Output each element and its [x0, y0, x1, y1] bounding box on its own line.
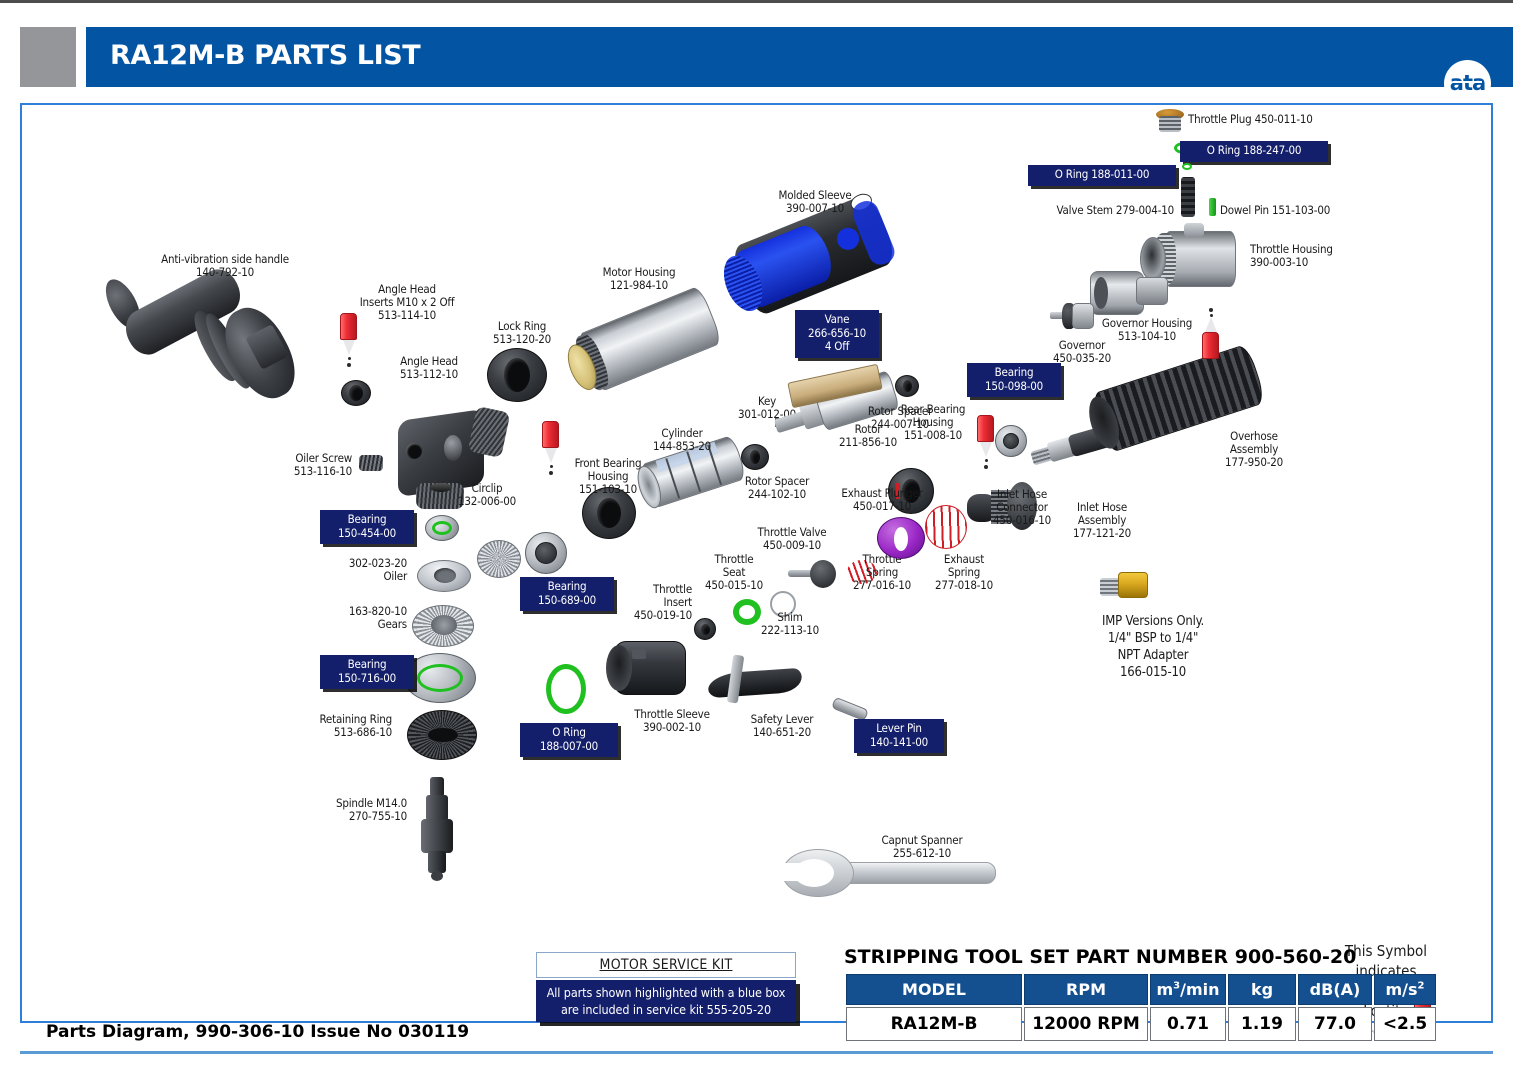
label-anti-vibration-side-handle: Anti-vibration side handle 140-792-10	[140, 253, 310, 279]
label-gears: 163-820-10 Gears	[297, 605, 407, 631]
cell-vibration: <2.5	[1374, 1007, 1436, 1041]
header-top-rule	[0, 0, 1513, 3]
th-rpm: RPM	[1024, 974, 1148, 1005]
label-lever-pin: Lever Pin 140-141-00	[854, 719, 944, 753]
ata-logo-strike	[1453, 81, 1482, 83]
rotor-spacer-244-007-10-graphic	[895, 375, 919, 397]
label-oiler-screw: Oiler Screw 513-116-10	[232, 452, 352, 478]
label-exhaust-plunger: Exhaust Plunger 450-017-10	[817, 487, 947, 513]
cell-weight: 1.19	[1228, 1007, 1296, 1041]
rotor-spacer-244-102-10-graphic	[741, 444, 769, 470]
retaining-ring-graphic	[407, 710, 477, 760]
safety-lever-graphic	[708, 655, 804, 705]
label-bearing-150-689-00: Bearing 150-689-00	[520, 577, 614, 611]
table-row: RA12M-B 12000 RPM 0.71 1.19 77.0 <2.5	[846, 1007, 1436, 1041]
valve-stem-graphic	[1181, 177, 1195, 217]
th-model: MODEL	[846, 974, 1022, 1005]
imp-adapter-graphic	[1100, 570, 1150, 602]
label-oiler: 302-023-20 Oiler	[297, 557, 407, 583]
throttle-valve-graphic	[788, 560, 836, 588]
throttle-sleeve-graphic	[606, 635, 694, 705]
footer-issue-text: Parts Diagram, 990-306-10 Issue No 03011…	[46, 1022, 469, 1042]
exhaust-spring-graphic	[925, 505, 967, 549]
throttle-plug-graphic	[1156, 109, 1184, 135]
diagram-frame: Anti-vibration side handle 140-792-10 An…	[20, 103, 1493, 1023]
label-bearing-150-716-00: Bearing 150-716-00	[320, 655, 414, 689]
label-throttle-valve: Throttle Valve 450-009-10	[732, 526, 852, 552]
imp-versions-note: IMP Versions Only. 1/4" BSP to 1/4" NPT …	[1053, 613, 1253, 681]
parts-diagram-page: ata RA12M-B PARTS LIST Anti-vibration si…	[0, 0, 1513, 1069]
label-throttle-plug: Throttle Plug 450-011-10	[1188, 113, 1368, 126]
label-angle-head-inserts: Angle Head Inserts M10 x 2 Off 513-114-1…	[327, 283, 487, 322]
label-valve-stem: Valve Stem 279-004-10	[994, 204, 1174, 217]
cell-rpm: 12000 RPM	[1024, 1007, 1148, 1041]
bevel-gear-graphic	[477, 540, 521, 578]
label-molded-sleeve: Molded Sleeve 390-007-10	[755, 189, 875, 215]
label-throttle-housing: Throttle Housing 390-003-10	[1250, 243, 1380, 269]
oiler-screw-graphic	[359, 455, 383, 471]
label-o-ring-188-011-00: O Ring 188-011-00	[1028, 165, 1176, 186]
th-weight: kg	[1228, 974, 1296, 1005]
th-noise: dB(A)	[1298, 974, 1372, 1005]
label-governor: Governor 450-035-20	[1027, 339, 1137, 365]
label-dowel-pin: Dowel Pin 151-103-00	[1220, 204, 1400, 217]
label-throttle-sleeve: Throttle Sleeve 390-002-10	[617, 708, 727, 734]
throttle-insert-graphic	[694, 618, 716, 640]
loctite-bottle-icon-2	[542, 421, 560, 475]
governor-graphic	[1050, 301, 1096, 333]
motor-service-kit-title-text: MOTOR SERVICE KIT	[600, 957, 733, 973]
label-angle-head: Angle Head 513-112-10	[364, 355, 494, 381]
motor-housing-graphic	[552, 274, 735, 419]
exhaust-plunger-graphic	[877, 517, 925, 559]
label-retaining-ring: Retaining Ring 513-686-10	[262, 713, 392, 739]
label-vane: Vane 266-656-10 4 Off	[795, 310, 879, 358]
bearing-150-689-00-graphic	[525, 532, 567, 574]
o-ring-188-011-00-graphic	[1182, 163, 1192, 170]
label-o-ring-188-007-00: O Ring 188-007-00	[520, 723, 618, 757]
header-gray-block	[20, 27, 76, 87]
label-safety-lever: Safety Lever 140-651-20	[732, 713, 832, 739]
bearing-150-716-00-graphic	[404, 653, 476, 703]
th-vibration: m/s2	[1374, 974, 1436, 1005]
label-capnut-spanner: Capnut Spanner 255-612-10	[862, 834, 982, 860]
angle-head-insert-graphic	[341, 380, 371, 406]
ata-logo: ata	[1444, 60, 1491, 107]
o-ring-188-007-00-graphic	[546, 664, 586, 714]
label-throttle-insert: Throttle Insert 450-019-10	[602, 583, 692, 622]
label-inlet-hose-assembly: Inlet Hose Assembly 177-121-20	[1057, 501, 1147, 540]
oiler-graphic	[417, 560, 471, 592]
label-rear-bearing-housing: Rear Bearing Housing 151-008-10	[878, 403, 988, 442]
label-o-ring-188-247-00: O Ring 188-247-00	[1180, 141, 1328, 162]
bearing-150-454-00-graphic	[425, 515, 459, 541]
cell-flow: 0.71	[1150, 1007, 1226, 1041]
stripping-tool-set-title: STRIPPING TOOL SET PART NUMBER 900-560-2…	[844, 946, 1356, 968]
loctite-bottle-icon-3	[977, 415, 995, 469]
label-inlet-hose-connector: Inlet Hose Connector 450-016-10	[977, 488, 1067, 527]
motor-service-kit-title: MOTOR SERVICE KIT	[536, 952, 796, 978]
bearing-150-098-00-graphic	[995, 425, 1027, 457]
motor-service-kit-body-text: All parts shown highlighted with a blue …	[547, 984, 786, 1018]
lever-pin-graphic	[831, 697, 869, 722]
page-title: RA12M-B PARTS LIST	[110, 40, 420, 71]
table-header-row: MODEL RPM m3/min kg dB(A) m/s2	[846, 974, 1436, 1005]
label-circlip: Circlip 132-006-00	[432, 482, 542, 508]
label-throttle-spring: Throttle Spring 277-016-10	[835, 553, 930, 592]
label-cylinder: Cylinder 144-853-20	[627, 427, 737, 453]
specifications-table: MODEL RPM m3/min kg dB(A) m/s2 RA12M-B 1…	[844, 972, 1438, 1043]
label-throttle-seat: Throttle Seat 450-015-10	[689, 553, 779, 592]
dowel-pin-graphic	[1209, 198, 1216, 216]
label-motor-housing: Motor Housing 121-984-10	[579, 266, 699, 292]
label-overhose-assembly: Overhose Assembly 177-950-20	[1204, 430, 1304, 469]
label-bearing-150-454-00: Bearing 150-454-00	[320, 510, 414, 544]
lock-ring-graphic	[487, 348, 547, 402]
label-spindle: Spindle M14.0 270-755-10	[277, 797, 407, 823]
label-exhaust-spring: Exhaust Spring 277-018-10	[919, 553, 1009, 592]
spindle-graphic	[420, 777, 456, 883]
cell-noise: 77.0	[1298, 1007, 1372, 1041]
gears-graphic	[412, 605, 474, 647]
label-shim: Shim 222-113-10	[745, 611, 835, 637]
th-flow: m3/min	[1150, 974, 1226, 1005]
cell-model: RA12M-B	[846, 1007, 1022, 1041]
motor-service-kit-body: All parts shown highlighted with a blue …	[536, 980, 796, 1022]
label-bearing-150-098-00: Bearing 150-098-00	[967, 363, 1061, 397]
footer-rule	[20, 1051, 1493, 1054]
governor-housing-graphic	[1090, 265, 1172, 321]
